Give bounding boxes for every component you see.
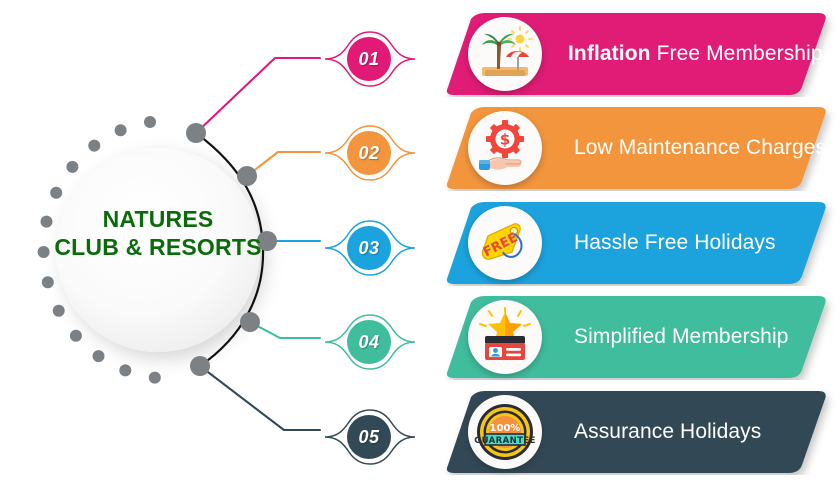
arc-node-04	[240, 312, 260, 332]
benefit-label-5: Assurance Holidays	[568, 389, 761, 475]
benefit-label-1: Inflation Free Membership	[568, 11, 823, 97]
step-badge-number-02: 02	[347, 131, 391, 175]
step-badge-04[interactable]: 04	[325, 314, 415, 370]
benefit-icon-4	[468, 300, 542, 374]
benefit-label-3-rest: Hassle Free Holidays	[574, 231, 776, 255]
arc-node-05	[190, 356, 210, 376]
step-badge-01[interactable]: 01	[325, 31, 415, 87]
connector-line-02	[247, 152, 320, 176]
benefit-banner-5[interactable]: 100% GUARANTEE Assurance Holidays	[436, 389, 836, 475]
benefit-row-4[interactable]: 04	[325, 294, 836, 390]
benefit-row-1[interactable]: 01	[325, 11, 836, 107]
hub-title: NATURES CLUB & RESORTS	[42, 205, 274, 261]
arc-node-02	[237, 166, 257, 186]
benefit-icon-3: FREE	[468, 206, 542, 280]
svg-text:GUARANTEE: GUARANTEE	[474, 436, 535, 446]
svg-text:$: $	[500, 131, 510, 149]
hand-gear-dollar-icon: $	[474, 117, 536, 179]
benefit-label-3: Hassle Free Holidays	[568, 200, 776, 286]
arc-node-01	[186, 123, 206, 143]
benefit-banner-4[interactable]: Simplified Membership	[436, 294, 836, 380]
benefit-label-1-lead: Inflation	[568, 42, 651, 66]
benefit-icon-2: $	[468, 111, 542, 185]
infographic-canvas: NATURES CLUB & RESORTS 01	[0, 0, 836, 491]
svg-text:100%: 100%	[490, 423, 521, 434]
step-badge-03[interactable]: 03	[325, 220, 415, 276]
step-badge-number-05: 05	[347, 415, 391, 459]
benefit-label-5-rest: Assurance Holidays	[574, 420, 761, 444]
connector-line-04	[250, 322, 320, 338]
connector-line-05	[200, 366, 320, 430]
benefit-icon-1	[468, 17, 542, 91]
benefit-label-2: Low Maintenance Charges	[568, 105, 826, 191]
benefit-row-3[interactable]: 03 FREE	[325, 200, 836, 296]
hub-title-line-2: CLUB & RESORTS	[42, 233, 274, 261]
membership-card-star-icon	[474, 306, 536, 368]
benefit-banner-1[interactable]: Inflation Free Membership	[436, 11, 836, 97]
benefit-icon-5: 100% GUARANTEE	[468, 395, 542, 469]
benefit-banner-2[interactable]: $ Low Maintenance Charges	[436, 105, 836, 191]
palm-beach-icon	[474, 23, 536, 85]
step-badge-05[interactable]: 05	[325, 409, 415, 465]
guarantee-badge-icon: 100% GUARANTEE	[474, 401, 536, 463]
hub-title-line-1: NATURES	[42, 205, 274, 233]
benefit-label-2-rest: Low Maintenance Charges	[574, 136, 826, 160]
step-badge-number-04: 04	[347, 320, 391, 364]
free-price-tag-icon: FREE	[474, 212, 536, 274]
benefit-label-4: Simplified Membership	[568, 294, 789, 380]
step-badge-number-03: 03	[347, 226, 391, 270]
benefit-banner-3[interactable]: FREE Hassle Free Holidays	[436, 200, 836, 286]
benefit-row-5[interactable]: 05	[325, 389, 836, 485]
step-badge-number-01: 01	[347, 37, 391, 81]
step-badge-02[interactable]: 02	[325, 125, 415, 181]
benefit-label-1-rest: Free Membership	[657, 42, 823, 66]
connector-line-01	[196, 58, 320, 133]
benefit-row-2[interactable]: 02	[325, 105, 836, 201]
benefit-label-4-rest: Simplified Membership	[574, 325, 789, 349]
